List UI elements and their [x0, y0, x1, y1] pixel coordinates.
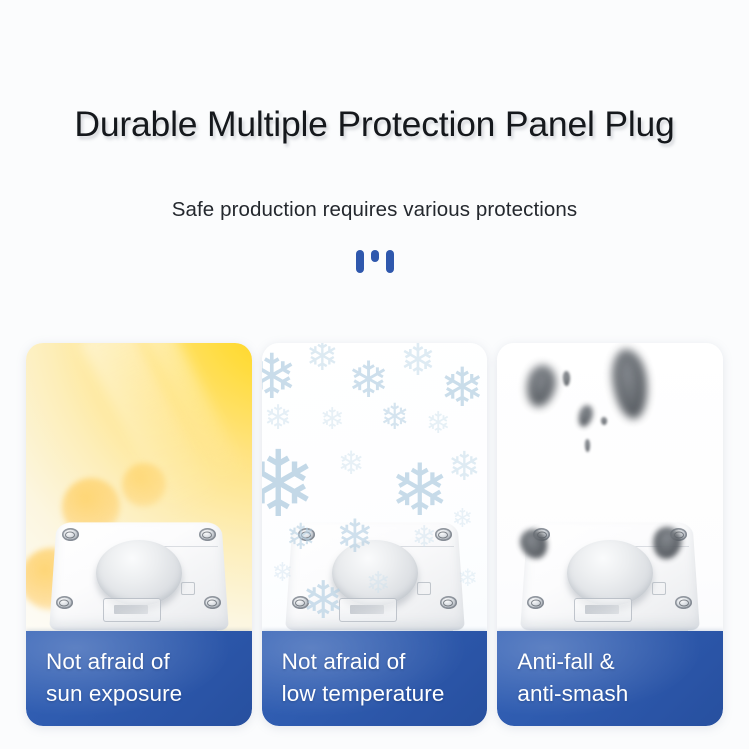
page-title: Durable Multiple Protection Panel Plug	[0, 104, 749, 145]
enclosure-label-emboss	[574, 598, 632, 622]
divider-bar-left	[356, 250, 364, 273]
snowflake-icon: ❄	[272, 559, 294, 585]
card-caption-text: Anti-fall & anti-smash	[517, 646, 713, 710]
push-button[interactable]	[567, 540, 653, 606]
feature-card-low-temperature[interactable]: ❄ ❄ ❄ ❄ ❄ ❄ ❄ ❄ ❄ ❄ ❄ ❄ ❄ ❄ ❄ ❄ ❄ ❄ ❄ ❄	[262, 343, 488, 726]
screw-icon	[204, 596, 221, 609]
feature-card-sun-exposure[interactable]: Not afraid of sun exposure	[26, 343, 252, 726]
feature-card-anti-fall-anti-smash[interactable]: Anti-fall & anti-smash	[497, 343, 723, 726]
card-caption-bar: Not afraid of sun exposure	[26, 631, 252, 726]
three-bar-divider-icon	[0, 250, 749, 276]
snowflake-icon: ❄	[366, 569, 391, 599]
snowflake-icon: ❄	[412, 523, 437, 553]
snowflake-icon: ❄	[302, 575, 346, 627]
card-caption-text: Not afraid of low temperature	[282, 646, 478, 710]
snowflake-icon: ❄	[320, 405, 345, 435]
card-caption-bar: Anti-fall & anti-smash	[497, 631, 723, 726]
enclosure-label-emboss	[339, 598, 397, 622]
snowflake-icon: ❄	[380, 399, 410, 435]
snowflake-icon: ❄	[426, 409, 451, 439]
push-button[interactable]	[96, 540, 182, 606]
feature-card-grid: Not afraid of sun exposure	[26, 343, 723, 726]
divider-bar-middle	[371, 250, 379, 262]
screw-icon	[62, 528, 79, 541]
enclosure-label-emboss	[103, 598, 161, 622]
screw-icon	[527, 596, 544, 609]
snowflake-icon: ❄	[390, 455, 450, 527]
divider-bar-right	[386, 250, 394, 273]
card-caption-text: Not afraid of sun exposure	[46, 646, 242, 710]
screw-icon	[675, 596, 692, 609]
snowflake-icon: ❄	[336, 513, 375, 559]
page-subtitle: Safe production requires various protect…	[0, 198, 749, 222]
card-caption-bar: Not afraid of low temperature	[262, 631, 488, 726]
enclosure-mark-emboss	[652, 582, 666, 595]
snowflake-icon: ❄	[264, 401, 293, 435]
snowflake-icon: ❄	[452, 505, 474, 531]
enclosure-mark-emboss	[181, 582, 195, 595]
snowflake-icon: ❄	[400, 343, 437, 383]
product-feature-page: Durable Multiple Protection Panel Plug S…	[0, 0, 749, 749]
screw-icon	[199, 528, 216, 541]
snowflake-icon: ❄	[286, 519, 316, 555]
snowflake-icon: ❄	[448, 447, 482, 487]
snowflake-icon: ❄	[338, 447, 365, 479]
snowflake-icon: ❄	[458, 567, 478, 591]
enclosure-mark-emboss	[417, 582, 431, 595]
snowflake-icon: ❄	[306, 343, 340, 377]
screw-icon	[440, 596, 457, 609]
screw-icon	[56, 596, 73, 609]
